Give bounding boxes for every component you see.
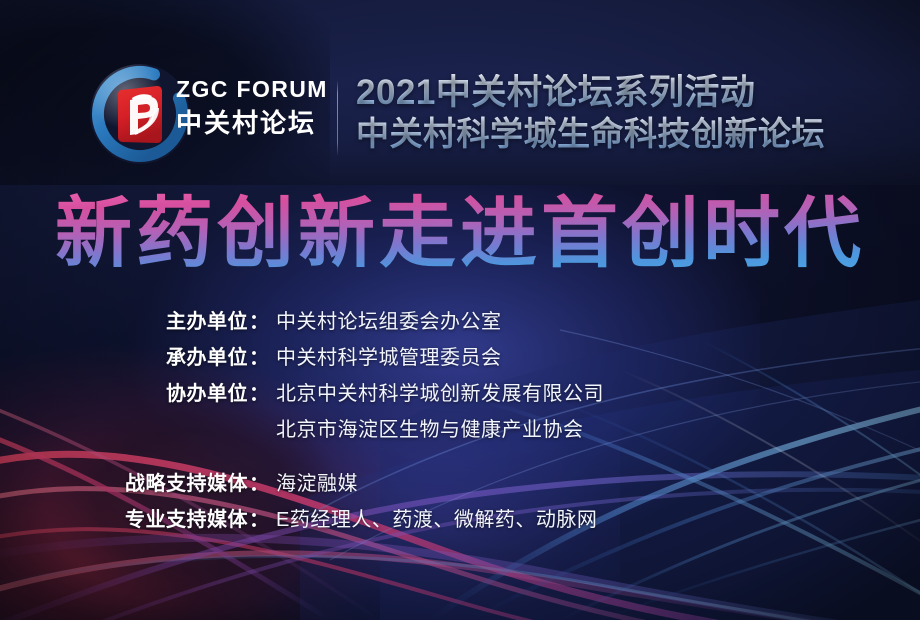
event-title-line-1: 2021中关村论坛系列活动	[356, 74, 825, 112]
info-row-label: 专业支持媒体	[116, 503, 248, 532]
info-row: 专业支持媒体：E药经理人、药渡、微解药、动脉网	[116, 503, 920, 539]
info-row-value: 北京中关村科学城创新发展有限公司	[276, 377, 604, 406]
info-row-label: 承办单位	[116, 341, 248, 370]
main-title-block: 新药创新走进首创时代 新药创新走进首创时代	[0, 186, 920, 286]
info-row-value: 海淀融媒	[276, 467, 358, 496]
info-row-label: 战略支持媒体	[116, 467, 248, 496]
info-row-colon: ：	[248, 305, 276, 334]
info-rows: 主办单位：中关村论坛组委会办公室承办单位：中关村科学城管理委员会协办单位：北京中…	[116, 305, 920, 539]
info-row-colon: ：	[248, 467, 276, 496]
info-row-colon: ：	[248, 341, 276, 370]
info-row-gap	[116, 449, 920, 467]
info-block: 主办单位：中关村论坛组委会办公室承办单位：中关村科学城管理委员会协办单位：北京中…	[0, 305, 920, 539]
event-title-block: 2021中关村论坛系列活动 中关村科学城生命科技创新论坛	[356, 74, 825, 152]
info-row-value: 北京市海淀区生物与健康产业协会	[276, 413, 584, 442]
info-row: 主办单位：中关村论坛组委会办公室	[116, 305, 920, 341]
header: ZGC FORUM 中关村论坛 2021中关村论坛系列活动 中关村科学城生命科技…	[0, 0, 920, 185]
brand-lockup: ZGC FORUM 中关村论坛	[176, 78, 326, 136]
main-title-text: 新药创新走进首创时代	[55, 191, 865, 277]
info-row-colon: ：	[248, 377, 276, 406]
event-title-line-2: 中关村科学城生命科技创新论坛	[356, 116, 825, 152]
info-row: 协办单位：北京中关村科学城创新发展有限公司	[116, 377, 920, 413]
info-row: 协办单位：北京市海淀区生物与健康产业协会	[116, 413, 920, 449]
info-row-colon: ：	[248, 503, 276, 532]
header-divider	[337, 80, 338, 156]
info-row-label: 主办单位	[116, 305, 248, 334]
poster-canvas: ZGC FORUM 中关村论坛 2021中关村论坛系列活动 中关村科学城生命科技…	[0, 0, 920, 620]
info-row-value: 中关村论坛组委会办公室	[276, 305, 502, 334]
brand-name-cn: 中关村论坛	[176, 110, 326, 136]
info-row: 承办单位：中关村科学城管理委员会	[116, 341, 920, 377]
info-row-label: 协办单位	[116, 377, 248, 406]
info-row: 战略支持媒体：海淀融媒	[116, 467, 920, 503]
info-row-value: E药经理人、药渡、微解药、动脉网	[276, 503, 597, 532]
main-title: 新药创新走进首创时代	[0, 186, 920, 282]
brand-name-en: ZGC FORUM	[176, 78, 326, 101]
info-row-value: 中关村科学城管理委员会	[276, 341, 502, 370]
